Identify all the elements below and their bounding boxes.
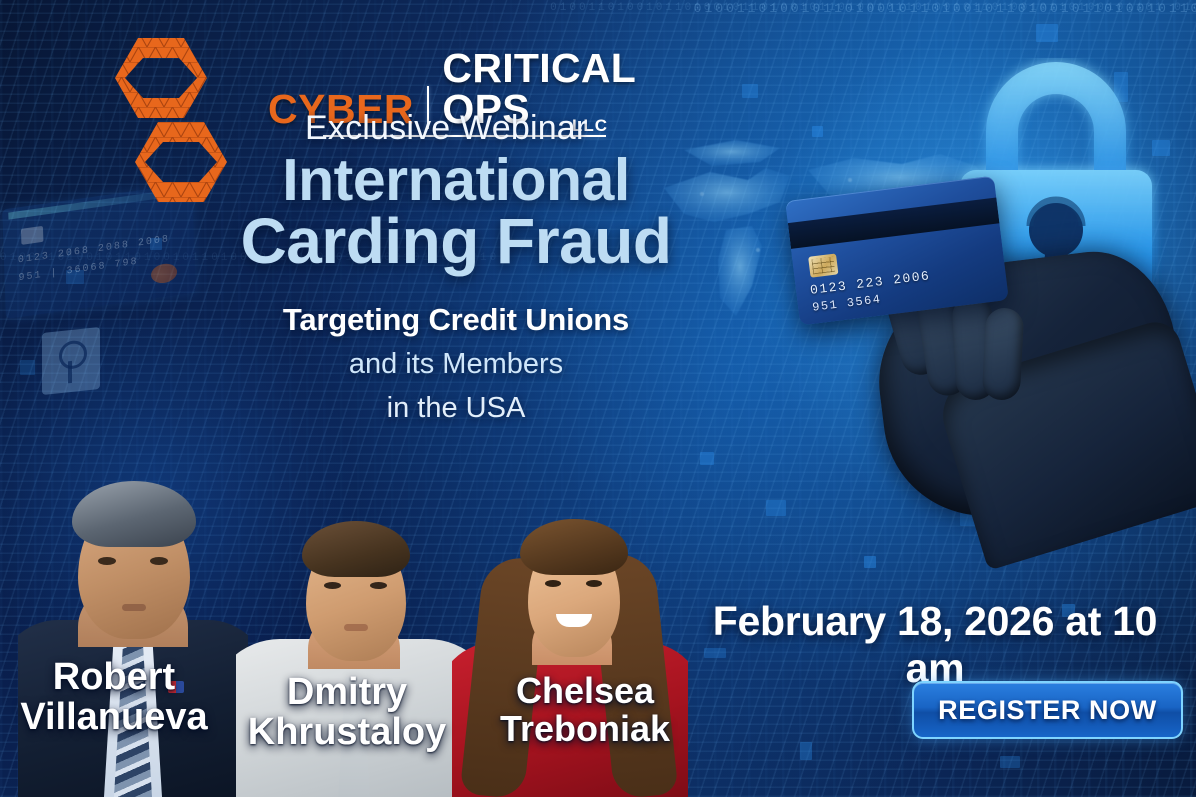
webinar-promo-poster: 0100110100101101001011010010110100101101… bbox=[0, 0, 1196, 797]
title-line-2: Carding Fraud bbox=[196, 210, 716, 273]
speaker-first-name: Chelsea bbox=[472, 672, 698, 710]
register-now-button[interactable]: REGISTER NOW bbox=[912, 681, 1183, 739]
card-chip-icon bbox=[808, 253, 838, 277]
credit-card-graphic: 0123 223 2006 951 3564 bbox=[785, 176, 1009, 326]
event-date-time: February 18, 2026 at 10 am bbox=[690, 598, 1180, 692]
speaker-name-robert: Robert Villanueva bbox=[8, 657, 220, 738]
speaker-name-chelsea: Chelsea Treboniak bbox=[472, 672, 698, 748]
speaker-first-name: Dmitry bbox=[222, 672, 472, 712]
subtitle-line-2: and its Members bbox=[196, 348, 716, 381]
title-line-1: International bbox=[282, 147, 630, 213]
speaker-first-name: Robert bbox=[8, 657, 220, 697]
eyebrow-text: Exclusive Webinar bbox=[305, 109, 587, 148]
speaker-last-name: Khrustaloy bbox=[222, 712, 472, 752]
gloved-hand-graphic: 0123 223 2006 951 3564 bbox=[770, 180, 1190, 510]
speaker-last-name: Treboniak bbox=[472, 710, 698, 748]
page-title: International Carding Fraud bbox=[196, 152, 716, 273]
subtitle-line-3: in the USA bbox=[196, 392, 716, 425]
subtitle-line-1: Targeting Credit Unions bbox=[196, 302, 716, 338]
register-now-label: REGISTER NOW bbox=[938, 695, 1157, 726]
speaker-name-dmitry: Dmitry Khrustaloy bbox=[222, 672, 472, 753]
speaker-last-name: Villanueva bbox=[8, 697, 220, 737]
speaker-names: Robert Villanueva Dmitry Khrustaloy Chel… bbox=[0, 667, 700, 777]
